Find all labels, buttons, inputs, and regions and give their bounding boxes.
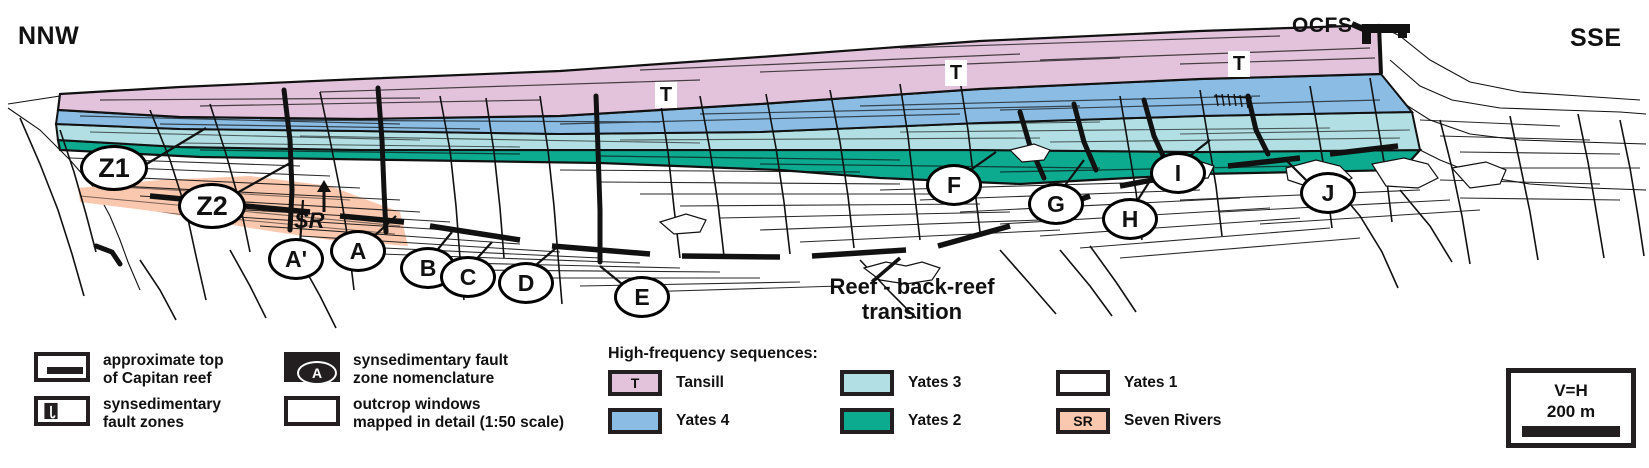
seven-rivers-swatch: SR [1056,408,1110,434]
legend-item-yates2: Yates 2 [840,408,961,434]
fault-zone-bubble-c[interactable]: C [440,256,496,298]
legend-item-synsedimentary-fault-zones: synsedimentary fault zones [34,396,221,432]
fault-zone-bubble-j[interactable]: J [1300,172,1356,214]
legend-label-synsedimentary-fault-zones: synsedimentary fault zones [103,396,221,432]
fault-zone-bubble-d[interactable]: D [498,262,554,304]
synsedimentary-fault-zone-swatch [34,396,90,426]
reef-transition-note: Reef - back-reef transition [812,274,1012,325]
legend-label-outcrop-windows: outcrop windows mapped in detail (1:50 s… [353,396,564,432]
orientation-label-nnw: NNW [18,22,79,51]
legend-item-seven-rivers: SR Seven Rivers [1056,408,1221,434]
legend-item-capitan-reef-top: approximate top of Capitan reef [34,352,224,388]
legend-item-yates3: Yates 3 [840,370,961,396]
legend-line-1: synsedimentary fault [353,352,508,370]
fault-zone-bubble-h[interactable]: H [1102,198,1158,240]
legend-label-yates4: Yates 4 [676,412,729,430]
tansill-marker-2: T [945,60,967,86]
vertical-exaggeration-label: V=H [1554,381,1588,401]
outcrop-window-swatch [284,396,340,426]
legend-item-yates1: Yates 1 [1056,370,1177,396]
yates2-swatch [840,408,894,434]
scale-length-label: 200 m [1547,402,1595,422]
tansill-marker-1: T [655,82,677,108]
scale-box: V=H 200 m [1506,368,1636,448]
legend-item-tansill: T Tansill [608,370,724,396]
legend-label-yates2: Yates 2 [908,412,961,430]
fault-zone-bubble-i[interactable]: I [1150,152,1206,194]
ocfs-label: OCFS [1292,14,1352,38]
fault-zone-bubble-f[interactable]: F [926,164,982,206]
fault-zone-bubble-g[interactable]: G [1028,183,1084,225]
fault-zone-bubble-e[interactable]: E [614,276,670,318]
legend-label-fault-zone-nomenclature: synsedimentary fault zone nomenclature [353,352,508,388]
legend-line-2: fault zones [103,414,221,432]
legend-label-yates1: Yates 1 [1124,374,1177,392]
capitan-reef-top-swatch [34,352,90,382]
yates4-swatch [608,408,662,434]
fault-hook-icon [38,400,86,422]
circled-a-icon: A [297,361,337,385]
capitan-reef-bar-icon [47,367,83,374]
reef-transition-line-1: Reef - back-reef [812,274,1012,299]
yates1-swatch [1056,370,1110,396]
legend-item-fault-zone-nomenclature: A synsedimentary fault zone nomenclature [284,352,508,388]
reef-transition-line-2: transition [812,299,1012,324]
sequences-legend-title: High-frequency sequences: [608,345,818,363]
legend-line-2: mapped in detail (1:50 scale) [353,414,564,432]
legend-item-yates4: Yates 4 [608,408,729,434]
fault-zone-nomenclature-swatch: A [284,352,340,382]
fault-zone-bubble-z1[interactable]: Z1 [80,145,148,191]
orientation-label-sse: SSE [1570,24,1622,53]
cross-section-figure: NNW SSE OCFS T T T Z1 Z2 A' A B C D E F … [0,0,1649,468]
legend-line-1: approximate top [103,352,224,370]
legend-label-yates3: Yates 3 [908,374,961,392]
tansill-swatch: T [608,370,662,396]
scale-bar-icon [1522,426,1620,437]
legend-item-outcrop-windows: outcrop windows mapped in detail (1:50 s… [284,396,564,432]
legend-line-1: outcrop windows [353,396,564,414]
fault-zone-bubble-a-prime[interactable]: A' [268,238,324,280]
legend-line-2: of Capitan reef [103,370,224,388]
fault-zone-bubble-z2[interactable]: Z2 [178,183,246,229]
tansill-marker-3: T [1228,51,1250,77]
legend-line-2: zone nomenclature [353,370,508,388]
fault-zone-bubble-a[interactable]: A [330,230,386,272]
legend-line-1: synsedimentary [103,396,221,414]
legend-label-tansill: Tansill [676,374,724,392]
legend-label-capitan-reef-top: approximate top of Capitan reef [103,352,224,388]
yates3-swatch [840,370,894,396]
seven-rivers-arrow-icon [312,178,342,214]
legend-label-seven-rivers: Seven Rivers [1124,412,1221,430]
